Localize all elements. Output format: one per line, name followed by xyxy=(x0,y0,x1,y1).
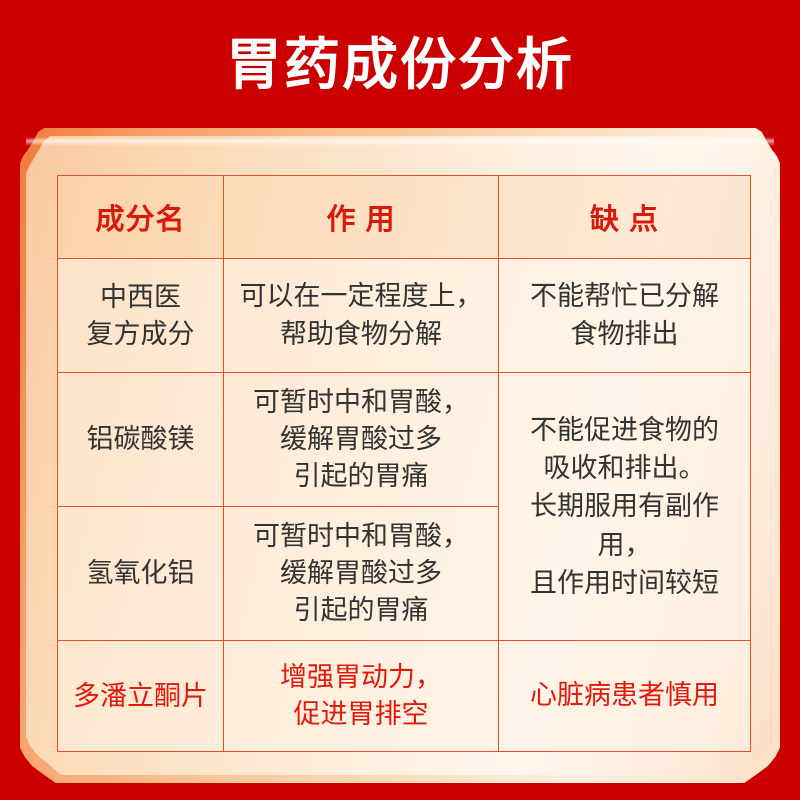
cell-effect: 可以在一定程度上， 帮助食物分解 xyxy=(224,259,499,373)
text-line: 引起的胃痛 xyxy=(230,592,492,629)
cell-effect: 可暂时中和胃酸， 缓解胃酸过多 引起的胃痛 xyxy=(224,507,499,641)
text-line: 不能促进食物的 xyxy=(505,411,744,449)
cell-ingredient-name: 多潘立酮片 xyxy=(58,641,224,752)
text-line: 不能帮忙已分解 xyxy=(505,278,744,315)
text-line: 缓解胃酸过多 xyxy=(230,421,492,458)
cell-drawback: 不能帮忙已分解 食物排出 xyxy=(499,259,751,373)
column-header-fault: 缺 点 xyxy=(499,176,751,259)
column-header-name: 成分名 xyxy=(58,176,224,259)
table-header-row: 成分名 作 用 缺 点 xyxy=(58,176,751,259)
text-line: 氢氧化铝 xyxy=(64,555,217,591)
table-row-highlight: 多潘立酮片 增强胃动力， 促进胃排空 心脏病患者慎用 xyxy=(58,641,751,752)
table-body: 中西医 复方成分 可以在一定程度上， 帮助食物分解 不能帮忙已分解 食物排出 铝… xyxy=(58,259,751,752)
text-line: 可以在一定程度上， xyxy=(230,278,492,315)
text-line: 缓解胃酸过多 xyxy=(230,555,492,592)
cell-drawback-merged: 不能促进食物的 吸收和排出。 长期服用有副作用， 且作用时间较短 xyxy=(499,373,751,641)
text-line: 引起的胃痛 xyxy=(230,458,492,495)
text-line: 长期服用有副作用， xyxy=(505,487,744,564)
text-line: 铝碳酸镁 xyxy=(64,421,217,457)
column-header-use: 作 用 xyxy=(224,176,499,259)
text-line: 多潘立酮片 xyxy=(64,678,217,714)
cell-effect: 增强胃动力， 促进胃排空 xyxy=(224,641,499,752)
text-line: 帮助食物分解 xyxy=(230,316,492,353)
decorative-panel: 成分名 作 用 缺 点 中西医 复方成分 可以在一定程度上， 帮助食物分解 xyxy=(20,128,780,783)
text-line: 中西医 xyxy=(64,279,217,315)
cell-effect: 可暂时中和胃酸， 缓解胃酸过多 引起的胃痛 xyxy=(224,373,499,507)
text-line: 可暂时中和胃酸， xyxy=(230,384,492,421)
poster-root: 胃药成份分析 成分名 作 用 缺 点 中西医 xyxy=(0,0,800,800)
page-title: 胃药成份分析 xyxy=(226,37,574,93)
text-line: 心脏病患者慎用 xyxy=(505,677,744,714)
cell-ingredient-name: 中西医 复方成分 xyxy=(58,259,224,373)
cell-ingredient-name: 铝碳酸镁 xyxy=(58,373,224,507)
text-line: 可暂时中和胃酸， xyxy=(230,518,492,555)
cell-ingredient-name: 氢氧化铝 xyxy=(58,507,224,641)
text-line: 吸收和排出。 xyxy=(505,449,744,487)
title-bar: 胃药成份分析 xyxy=(0,0,800,130)
text-line: 促进胃排空 xyxy=(230,696,492,733)
table-row: 中西医 复方成分 可以在一定程度上， 帮助食物分解 不能帮忙已分解 食物排出 xyxy=(58,259,751,373)
text-line: 增强胃动力， xyxy=(230,659,492,696)
cell-drawback: 心脏病患者慎用 xyxy=(499,641,751,752)
ingredient-analysis-table: 成分名 作 用 缺 点 中西医 复方成分 可以在一定程度上， 帮助食物分解 xyxy=(57,175,751,752)
table-row: 铝碳酸镁 可暂时中和胃酸， 缓解胃酸过多 引起的胃痛 不能促进食物的 吸收和排出… xyxy=(58,373,751,507)
text-line: 复方成分 xyxy=(64,316,217,352)
text-line: 且作用时间较短 xyxy=(505,564,744,602)
text-line: 食物排出 xyxy=(505,316,744,353)
table-header: 成分名 作 用 缺 点 xyxy=(58,176,751,259)
